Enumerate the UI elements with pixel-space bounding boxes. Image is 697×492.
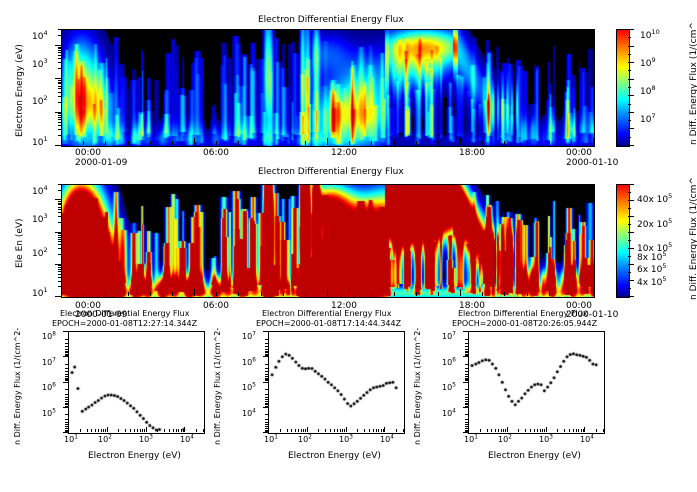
axis-tick [482,141,483,145]
axis-tick [58,88,61,89]
panel1-ytick-1: 101 [32,139,48,148]
axis-tick [465,364,468,365]
spectrum-plot-2 [268,331,405,434]
panel4-ytick-6: 106 [242,359,256,367]
panel4-xtick-4: 104 [380,436,394,444]
axis-tick [463,432,468,433]
axis-tick [327,138,328,145]
axis-tick [501,429,502,432]
panel2-cbtick-20: 20x 105 [637,221,672,230]
axis-tick [369,429,370,432]
axis-tick [58,209,61,210]
panel4-epoch: EPOCH=2000-01-08T17:14:44.344Z [256,320,401,328]
panel1-cbtick-10: 1010 [640,32,660,41]
axis-tick [87,429,88,432]
panel1-cbtick-7: 107 [640,116,656,125]
axis-tick [261,141,262,145]
axis-tick [58,235,61,236]
axis-tick [373,429,374,432]
axis-tick [58,115,61,116]
axis-tick [571,141,572,145]
axis-tick [465,394,468,395]
axis-tick [58,50,61,51]
axis-tick [58,254,61,255]
axis-tick [58,58,61,59]
panel5-epoch: EPOCH=2000-01-08T20:26:05.944Z [452,320,597,328]
spectrum-plot-3-canvas [469,332,604,433]
axis-tick [265,343,268,344]
axis-tick [65,349,68,350]
axis-tick [58,274,61,275]
axis-tick [263,356,268,357]
panel3-ytick-6: 106 [42,384,56,392]
axis-tick [98,429,99,432]
axis-tick [463,382,468,383]
axis-tick [573,429,574,432]
axis-tick [58,113,61,114]
axis-tick [58,244,61,245]
panel3-ytick-8: 108 [42,333,56,341]
axis-tick [346,427,347,432]
axis-tick [196,429,197,432]
panel2-ylabel: Ele En (eV) [16,218,25,268]
panel2-ytick-3: 103 [32,216,48,225]
axis-tick [238,292,239,296]
colorbar-tick [628,37,631,38]
axis-tick [546,427,547,432]
axis-tick [58,271,61,272]
colorbar-tick [628,288,631,289]
colorbar-tick [628,137,631,138]
axis-tick [287,429,288,432]
colorbar-tick [628,120,631,121]
axis-tick [58,190,61,191]
axis-tick [61,138,62,145]
panel3-xtick-4: 104 [180,436,194,444]
panel4-xtick-2: 102 [298,436,312,444]
axis-tick [530,429,531,432]
panel5-xlabel: Electron Energy (eV) [488,452,581,461]
axis-tick [58,102,61,103]
axis-tick [58,35,61,36]
colorbar-tick [628,54,631,55]
axis-tick [63,331,68,332]
axis-tick [394,292,395,296]
panel3-xtick-3: 103 [139,436,153,444]
axis-tick [142,429,143,432]
panel3-ytick-7: 107 [42,359,56,367]
axis-tick [495,429,496,432]
axis-tick [118,429,119,432]
axis-tick [263,331,268,332]
spectrogram-top [61,29,595,147]
axis-tick [58,212,61,213]
axis-tick [465,397,468,398]
axis-tick [581,429,582,432]
axis-tick [349,292,350,296]
axis-tick [578,429,579,432]
axis-tick [61,289,62,296]
axis-tick [58,277,61,278]
colorbar-tick [628,62,634,63]
axis-tick [584,427,585,432]
axis-tick [65,422,68,423]
axis-tick [58,281,61,282]
axis-tick [169,429,170,432]
axis-tick [480,429,481,432]
axis-tick [438,141,439,145]
colorbar-tick [628,208,631,209]
axis-tick [301,429,302,432]
colorbar-tick [628,200,634,201]
axis-tick [396,429,397,432]
axis-tick [63,382,68,383]
axis-tick [349,141,350,145]
colorbar-tick [628,296,634,297]
axis-tick [549,292,550,296]
axis-tick [65,364,68,365]
panel1-cbtick-8: 108 [640,88,656,97]
panel4-xtick-1: 101 [264,436,278,444]
axis-tick [265,389,268,390]
panel3-xlabel: Electron Energy (eV) [88,452,181,461]
axis-tick [593,289,594,296]
axis-tick [58,48,61,49]
panel1-ytick-3: 103 [32,61,48,70]
panel1-xtick-2: 12:00 [331,149,357,158]
axis-tick [58,80,61,81]
axis-tick [265,394,268,395]
axis-tick [63,407,68,408]
axis-tick [125,429,126,432]
axis-tick [58,207,61,208]
panel4-ytick-7: 107 [242,333,256,341]
axis-tick [65,339,68,340]
axis-tick [140,429,141,432]
panel5-xtick-3: 103 [539,436,553,444]
colorbar-tick [628,104,631,105]
spectrum-plot-1-canvas [69,332,204,433]
axis-tick [58,92,61,93]
axis-tick [58,29,61,30]
axis-tick [305,292,306,296]
panel5-ytick-4: 104 [442,410,456,418]
axis-tick [381,429,382,432]
axis-tick [468,427,469,432]
axis-tick [438,292,439,296]
axis-tick [58,83,61,84]
axis-tick [498,429,499,432]
panel2-cbtick-4: 4x 105 [637,279,667,288]
colorbar-tick [628,280,634,281]
spectrum-plot-1 [68,331,205,434]
axis-tick [150,141,151,145]
axis-tick [376,429,377,432]
axis-tick [58,184,61,185]
axis-tick [58,265,61,266]
axis-tick [58,201,61,202]
axis-tick [465,339,468,340]
axis-tick [460,289,461,296]
panel5-ytick-5: 105 [442,384,456,392]
axis-tick [184,427,185,432]
panel4-xlabel: Electron Energy (eV) [288,452,381,461]
axis-tick [105,141,106,145]
axis-tick [58,233,61,234]
panel3-ytick-5: 105 [42,410,56,418]
colorbar-tick [628,95,634,96]
axis-tick [537,429,538,432]
axis-tick [283,292,284,296]
axis-tick [95,429,96,432]
panel4-xtick-3: 103 [339,436,353,444]
colorbar-tick [628,224,631,225]
axis-tick [576,429,577,432]
axis-tick [416,292,417,296]
axis-tick [569,429,570,432]
panel5-xtick-4: 104 [580,436,594,444]
axis-tick [55,296,61,297]
spectrogram-middle [61,184,595,298]
axis-tick [58,237,61,238]
colorbar-tick [628,272,631,273]
axis-tick [593,138,594,145]
axis-tick [58,241,61,242]
colorbar-tick [628,70,631,71]
axis-tick [371,141,372,145]
axis-tick [384,427,385,432]
axis-tick [65,397,68,398]
axis-tick [203,429,204,432]
axis-tick [342,429,343,432]
panel1-title: Electron Differential Energy Flux [258,16,404,25]
axis-tick [65,424,68,425]
axis-tick [83,141,84,145]
axis-tick [465,414,468,415]
panel1-xtick-1: 06:00 [203,149,229,158]
axis-tick [527,292,528,296]
axis-tick [371,292,372,296]
axis-tick [525,429,526,432]
axis-tick [55,145,61,146]
axis-tick [364,429,365,432]
axis-tick [325,429,326,432]
axis-tick [172,141,173,145]
panel4-ylabel: n Diff. Energy Flux (1/(cm^2- [214,328,222,445]
axis-tick [334,429,335,432]
axis-tick [128,141,129,145]
axis-tick [58,62,61,63]
axis-tick [58,55,61,56]
axis-tick [58,203,61,204]
axis-tick [150,292,151,296]
axis-tick [527,141,528,145]
panel3-xtick-1: 101 [64,436,78,444]
axis-tick [58,216,61,217]
panel2-title: Electron Differential Energy Flux [258,168,404,177]
axis-tick [181,429,182,432]
axis-tick [463,407,468,408]
axis-tick [58,286,61,287]
axis-tick [265,419,268,420]
axis-tick [327,289,328,296]
axis-tick [265,374,268,375]
axis-tick [172,292,173,296]
axis-tick [216,141,217,145]
panel2-ytick-1: 101 [32,290,48,299]
axis-tick [403,429,404,432]
axis-tick [283,141,284,145]
axis-tick [394,141,395,145]
axis-tick [596,429,597,432]
axis-tick [465,419,468,420]
axis-tick [80,429,81,432]
axis-tick [65,343,68,344]
panel1-cbtick-9: 109 [640,60,656,69]
axis-tick [58,86,61,87]
axis-tick [65,394,68,395]
axis-tick [83,292,84,296]
axis-tick [265,422,268,423]
colorbar-tick [628,256,631,257]
axis-tick [128,292,129,296]
axis-tick [465,346,468,347]
axis-tick [265,397,268,398]
axis-tick [65,371,68,372]
axis-tick [101,429,102,432]
axis-tick [557,429,558,432]
axis-tick [68,427,69,432]
axis-tick [540,429,541,432]
axis-tick [465,422,468,423]
axis-tick [146,427,147,432]
axis-tick [58,239,61,240]
panel1-colorbar-label: n Diff. Energy Flux (1/(cm^ [690,22,697,145]
axis-tick [261,292,262,296]
panel5-ylabel: n Diff. Energy Flux (1/(cm^2- [414,328,422,445]
axis-tick [58,269,61,270]
axis-tick [58,119,61,120]
axis-tick [265,349,268,350]
axis-tick [330,429,331,432]
axis-tick [491,429,492,432]
panel5-xtick-1: 101 [464,436,478,444]
axis-tick [549,141,550,145]
axis-tick [65,399,68,400]
axis-tick [65,414,68,415]
colorbar-tick [628,240,631,241]
colorbar-tick [628,248,634,249]
axis-tick [504,292,505,296]
colorbar-tick [628,46,634,47]
panel1-ytick-4: 104 [32,33,48,42]
panel1-xtick-0: 00:00 [75,149,101,158]
axis-tick [265,424,268,425]
axis-tick [58,129,61,130]
panel5-ytick-7: 107 [442,333,456,341]
panel4-ytick-4: 104 [242,410,256,418]
spectrogram-top-canvas [62,30,594,146]
axis-tick [503,429,504,432]
axis-tick [307,427,308,432]
axis-tick [465,349,468,350]
axis-tick [268,427,269,432]
axis-tick [58,222,61,223]
axis-tick [465,389,468,390]
axis-tick [280,429,281,432]
axis-tick [58,117,61,118]
axis-tick [65,389,68,390]
colorbar-tick [628,79,634,80]
panel1-ytick-2: 102 [32,98,48,107]
colorbar-tick [628,29,634,30]
axis-tick [164,429,165,432]
axis-tick [465,424,468,425]
axis-tick [58,68,61,69]
axis-tick [58,248,61,249]
axis-tick [263,407,268,408]
axis-tick [534,429,535,432]
axis-tick [63,356,68,357]
axis-tick [216,292,217,296]
axis-tick [337,429,338,432]
axis-tick [58,267,61,268]
spectrogram-middle-canvas [62,185,594,297]
colorbar-tick [628,216,634,217]
axis-tick [105,292,106,296]
axis-tick [58,82,61,83]
axis-tick [137,429,138,432]
axis-tick [298,429,299,432]
axis-tick [58,204,61,205]
axis-tick [460,138,461,145]
axis-tick [265,399,268,400]
axis-tick [265,339,268,340]
colorbar-tick [628,184,634,185]
colorbar-tick [628,264,634,265]
axis-tick [564,429,565,432]
panel1-xdate-left: 2000-01-09 [75,159,127,168]
axis-tick [463,331,468,332]
axis-tick [157,429,158,432]
panel2-colorbar-label: n Diff. Energy Flux (1/(cm^ [690,177,697,300]
panel1-xdate-right: 2000-01-10 [566,159,618,168]
axis-tick [65,346,68,347]
axis-tick [58,125,61,126]
axis-tick [265,346,268,347]
axis-tick [176,429,177,432]
axis-tick [265,368,268,369]
axis-tick [463,356,468,357]
axis-tick [58,135,61,136]
panel2-cbtick-40: 40x 105 [637,196,672,205]
axis-tick [194,138,195,145]
colorbar-tick [628,128,634,129]
axis-tick [173,429,174,432]
axis-tick [178,429,179,432]
axis-tick [507,427,508,432]
axis-tick [603,429,604,432]
colorbar-tick [628,145,634,146]
axis-tick [378,429,379,432]
axis-tick [91,429,92,432]
colorbar-tick [628,192,631,193]
panel2-ytick-2: 102 [32,250,48,259]
axis-tick [58,96,61,97]
panel5-xtick-2: 102 [498,436,512,444]
panel3-xtick-2: 102 [98,436,112,444]
axis-tick [134,429,135,432]
